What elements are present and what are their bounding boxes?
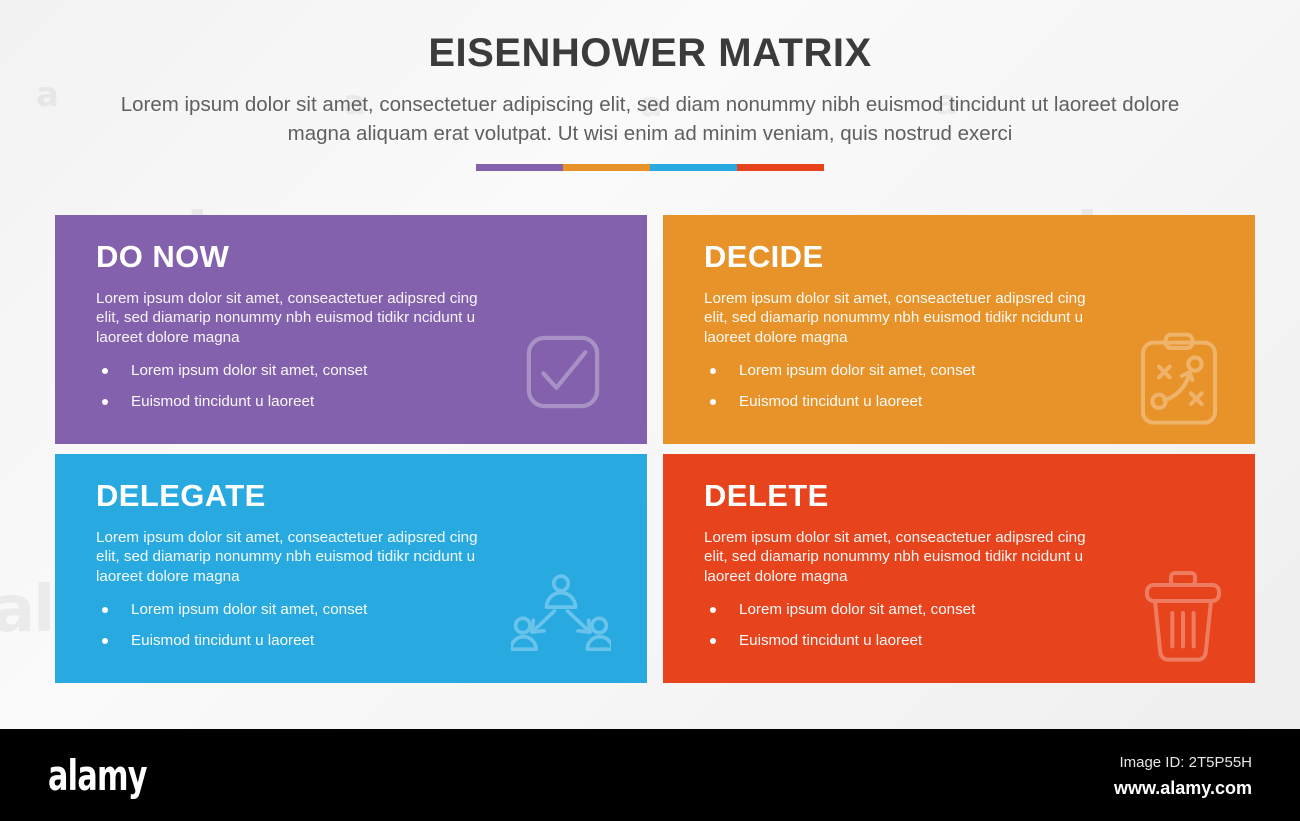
quadrant-title: DELEGATE [96,480,613,513]
quadrant-bullet-list: Lorem ipsum dolor sit amet, conset Euism… [96,600,613,650]
divider-segment-3 [650,164,737,171]
quadrant-bullet-list: Lorem ipsum dolor sit amet, conset Euism… [704,361,1221,411]
divider-bar [476,164,824,171]
quadrant-description: Lorem ipsum dolor sit amet, conseactetue… [704,289,1109,348]
list-item: Euismod tincidunt u laoreet [96,392,613,411]
list-item-label: Lorem ipsum dolor sit amet, conset [131,600,367,619]
list-item: Euismod tincidunt u laoreet [704,631,1221,650]
bullet-dot-icon [102,399,108,405]
list-item: Lorem ipsum dolor sit amet, conset [96,361,613,380]
quadrant-description: Lorem ipsum dolor sit amet, conseactetue… [96,528,501,587]
list-item: Lorem ipsum dolor sit amet, conset [704,600,1221,619]
list-item-label: Lorem ipsum dolor sit amet, conset [131,361,367,380]
list-item-label: Lorem ipsum dolor sit amet, conset [739,600,975,619]
list-item-label: Euismod tincidunt u laoreet [739,631,922,650]
list-item: Euismod tincidunt u laoreet [96,631,613,650]
quadrant-card-delete[interactable]: DELETE Lorem ipsum dolor sit amet, conse… [663,454,1255,683]
quadrant-description: Lorem ipsum dolor sit amet, conseactetue… [96,289,501,348]
header: EISENHOWER MATRIX Lorem ipsum dolor sit … [0,0,1300,171]
bullet-dot-icon [102,638,108,644]
bullet-dot-icon [710,607,716,613]
alamy-footer-bar: alamy Image ID: 2T5P55H www.alamy.com [0,729,1300,821]
bullet-dot-icon [710,399,716,405]
quadrant-card-do-now[interactable]: DO NOW Lorem ipsum dolor sit amet, conse… [55,215,647,444]
divider-segment-4 [737,164,824,171]
quadrant-bullet-list: Lorem ipsum dolor sit amet, conset Euism… [96,361,613,411]
list-item: Lorem ipsum dolor sit amet, conset [96,600,613,619]
image-id-label: Image ID: 2T5P55H [1114,753,1252,773]
quadrant-card-decide[interactable]: DECIDE Lorem ipsum dolor sit amet, conse… [663,215,1255,444]
quadrant-bullet-list: Lorem ipsum dolor sit amet, conset Euism… [704,600,1221,650]
alamy-logo: alamy [48,755,147,797]
quadrant-description: Lorem ipsum dolor sit amet, conseactetue… [704,528,1109,587]
list-item: Euismod tincidunt u laoreet [704,392,1221,411]
quadrant-title: DECIDE [704,241,1221,274]
bullet-dot-icon [102,607,108,613]
eisenhower-matrix-grid: DO NOW Lorem ipsum dolor sit amet, conse… [55,215,1245,683]
list-item: Lorem ipsum dolor sit amet, conset [704,361,1221,380]
list-item-label: Euismod tincidunt u laoreet [131,631,314,650]
page-title: EISENHOWER MATRIX [0,0,1300,76]
infographic-canvas: a alamy a a a a a alamy a a a a alamy a … [0,0,1300,821]
bullet-dot-icon [102,368,108,374]
quadrant-title: DO NOW [96,241,613,274]
divider-segment-1 [476,164,563,171]
quadrant-title: DELETE [704,480,1221,513]
footer-meta: Image ID: 2T5P55H www.alamy.com [1114,753,1252,801]
alamy-url-label: www.alamy.com [1114,776,1252,800]
divider-segment-2 [563,164,650,171]
quadrant-card-delegate[interactable]: DELEGATE Lorem ipsum dolor sit amet, con… [55,454,647,683]
bullet-dot-icon [710,368,716,374]
list-item-label: Lorem ipsum dolor sit amet, conset [739,361,975,380]
bullet-dot-icon [710,638,716,644]
list-item-label: Euismod tincidunt u laoreet [739,392,922,411]
list-item-label: Euismod tincidunt u laoreet [131,392,314,411]
page-subtitle: Lorem ipsum dolor sit amet, consectetuer… [95,90,1205,148]
